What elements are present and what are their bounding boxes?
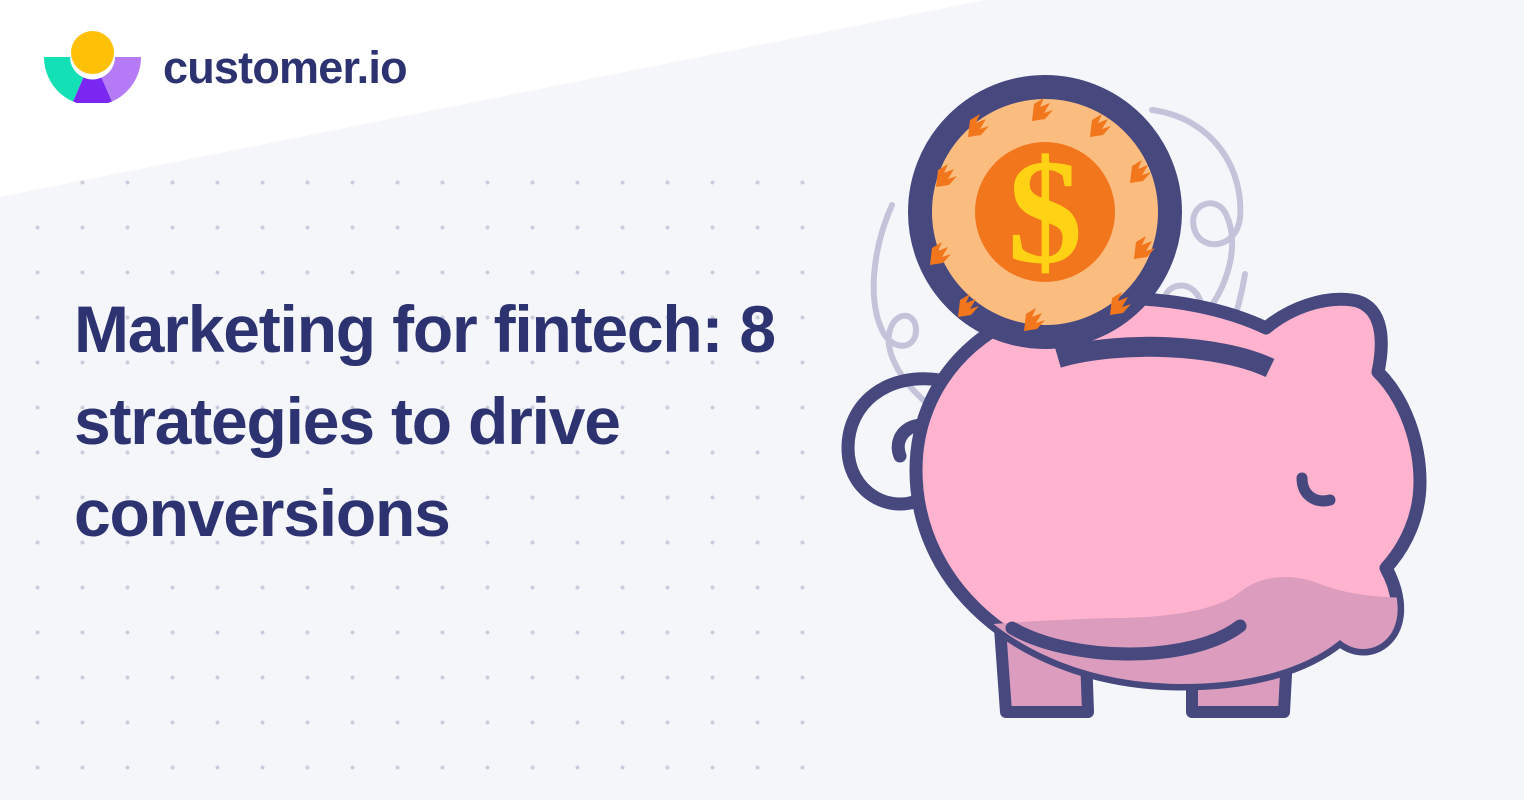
dollar-symbol: $ [1008,129,1083,295]
page-title: Marketing for fintech: 8 strategies to d… [74,283,834,559]
customerio-bowl-sun-logo-icon [44,31,141,103]
brand-logo[interactable]: customer.io [44,31,407,103]
dollar-coin-icon: $ [920,87,1170,337]
brand-wordmark: customer.io [163,45,407,90]
piggy-bank-illustration: $ [820,0,1524,800]
promo-banner: customer.io Marketing for fintech: 8 str… [0,0,1524,800]
piggy-bank-body [880,298,1460,760]
